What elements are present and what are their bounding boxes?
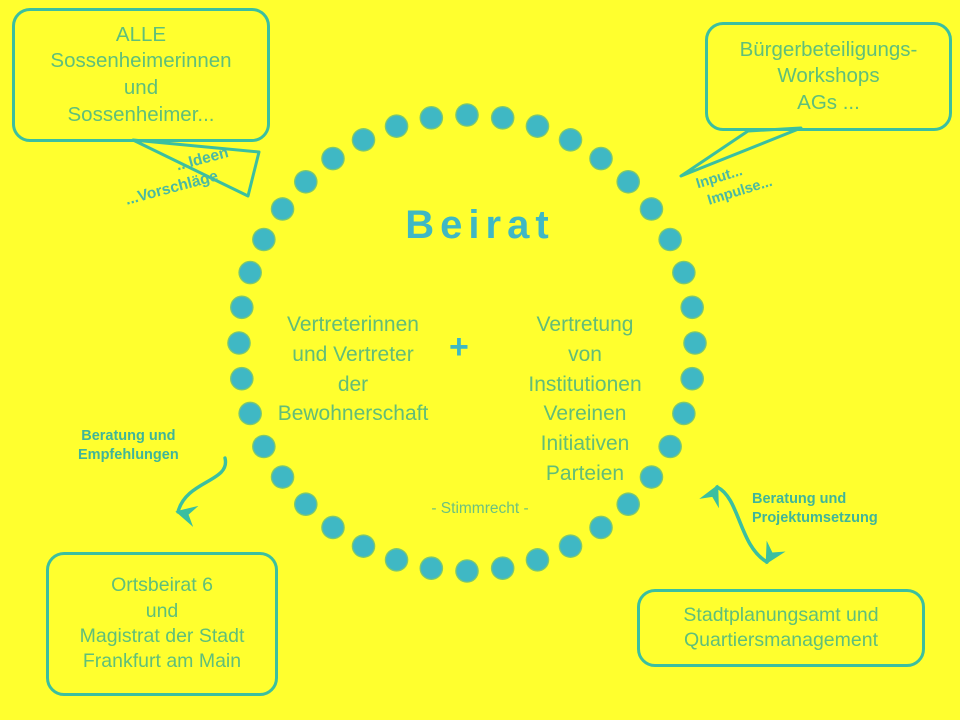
ring-dot <box>386 116 407 137</box>
center-right-line-5: Initiativen <box>490 429 680 459</box>
diagram-canvas: ALLE Sossenheimerinnen und Sossenheimer.… <box>0 0 960 720</box>
ring-dot-outline <box>321 516 345 540</box>
plus-icon: + <box>449 330 469 364</box>
ring-dot <box>527 116 548 137</box>
ring-dot <box>492 558 513 579</box>
ring-dot-outline <box>252 435 276 459</box>
bubble-citizens[interactable]: ALLE Sossenheimerinnen und Sossenheimer.… <box>12 8 270 142</box>
ring-dot <box>240 262 261 283</box>
box-ortsbeirat-line-1: Ortsbeirat 6 <box>49 573 275 598</box>
ring-dot <box>421 558 442 579</box>
center-left-line-4: Bewohnerschaft <box>258 399 448 429</box>
box-stadtplanung-line-2: Quartiersmanagement <box>640 628 922 653</box>
bubble-workshops-line-2: Workshops <box>708 63 949 90</box>
ring-dot <box>272 467 293 488</box>
center-column-residents: Vertreterinnen und Vertreter der Bewohne… <box>258 310 448 429</box>
ring-dot-outline <box>455 103 479 127</box>
ring-dot-outline <box>352 534 376 558</box>
ring-dot <box>682 368 703 389</box>
ring-dot <box>322 148 343 169</box>
ring-dot-outline <box>616 170 640 194</box>
ring-dot <box>229 333 250 354</box>
ring-dot-outline <box>420 106 444 130</box>
ring-dot-outline <box>491 106 515 130</box>
ring-dot-outline <box>230 367 254 391</box>
bubble-citizens-line-4: Sossenheimer... <box>15 102 267 129</box>
ring-dot <box>591 517 612 538</box>
bubble-workshops-line-1: Bürgerbeteiligungs- <box>708 37 949 64</box>
ring-dot-outline <box>589 516 613 540</box>
page-title-beirat: Beirat <box>0 203 960 248</box>
ring-dot-outline <box>526 114 550 138</box>
center-left-line-3: der <box>258 370 448 400</box>
ring-dot-outline <box>680 296 704 320</box>
ring-dot-outline <box>385 114 409 138</box>
ring-dot <box>457 105 478 126</box>
ring-dot <box>353 129 374 150</box>
bubble-citizens-line-1: ALLE <box>15 22 267 49</box>
ring-dot-outline <box>271 465 295 489</box>
bubble-workshops-line-3: AGs ... <box>708 90 949 117</box>
ring-dot-outline <box>352 128 376 152</box>
bubble-workshops[interactable]: Bürgerbeteiligungs- Workshops AGs ... <box>705 22 952 131</box>
ring-dot <box>322 517 343 538</box>
box-ortsbeirat-line-3: Magistrat der Stadt <box>49 624 275 649</box>
box-ortsbeirat-magistrat[interactable]: Ortsbeirat 6 und Magistrat der Stadt Fra… <box>46 552 278 696</box>
center-right-line-4: Vereinen <box>490 399 680 429</box>
ring-dot-outline <box>420 556 444 580</box>
ring-dot <box>560 129 581 150</box>
ring-dot-outline <box>680 367 704 391</box>
center-right-line-3: Institutionen <box>490 370 680 400</box>
ring-dot-outline <box>559 128 583 152</box>
ring-dot <box>560 536 581 557</box>
ring-dot-outline <box>491 556 515 580</box>
ring-dot <box>527 549 548 570</box>
ring-dot <box>673 262 694 283</box>
ring-dot-outline <box>683 331 707 355</box>
ring-dot <box>682 297 703 318</box>
center-left-line-2: und Vertreter <box>258 340 448 370</box>
ring-dot-outline <box>559 534 583 558</box>
ring-dot-outline <box>455 559 479 583</box>
center-left-line-1: Vertreterinnen <box>258 310 448 340</box>
center-right-line-1: Vertretung <box>490 310 680 340</box>
ring-dot-outline <box>672 261 696 285</box>
box-stadtplanung-line-1: Stadtplanungsamt und <box>640 603 922 628</box>
ring-dot <box>457 561 478 582</box>
ring-dot <box>353 536 374 557</box>
ring-dot-outline <box>589 147 613 171</box>
annotation-beratung-empfehlungen-line-1: Beratung und <box>78 427 179 446</box>
ring-dot <box>492 107 513 128</box>
ring-dot-outline <box>227 331 251 355</box>
box-stadtplanungsamt-quartiersmanagement[interactable]: Stadtplanungsamt und Quartiersmanagement <box>637 589 925 667</box>
annotation-beratung-projektumsetzung-line-2: Projektumsetzung <box>752 509 878 528</box>
ring-dot <box>685 333 706 354</box>
ring-dot <box>618 171 639 192</box>
center-column-institutions: Vertretung von Institutionen Vereinen In… <box>490 310 680 489</box>
annotation-beratung-empfehlungen: Beratung und Empfehlungen <box>78 427 179 464</box>
ring-dot-outline <box>385 548 409 572</box>
box-ortsbeirat-line-4: Frankfurt am Main <box>49 649 275 674</box>
ring-dot <box>231 368 252 389</box>
ring-dot <box>386 549 407 570</box>
ring-dot-outline <box>321 147 345 171</box>
ring-dot-outline <box>294 170 318 194</box>
annotation-beratung-projektumsetzung: Beratung und Projektumsetzung <box>752 490 878 527</box>
ring-dot <box>591 148 612 169</box>
bubble-citizens-line-3: und <box>15 75 267 102</box>
bubble-citizens-line-2: Sossenheimerinnen <box>15 48 267 75</box>
ring-dot <box>295 171 316 192</box>
ring-dot-outline <box>526 548 550 572</box>
ring-dot <box>421 107 442 128</box>
center-right-line-2: von <box>490 340 680 370</box>
ring-dot <box>253 436 274 457</box>
annotation-beratung-empfehlungen-line-2: Empfehlungen <box>78 446 179 465</box>
box-ortsbeirat-line-2: und <box>49 599 275 624</box>
annotation-ideen-vorschlaege: ...Ideen ...Vorschläge <box>118 143 236 210</box>
ring-dot <box>231 297 252 318</box>
annotation-beratung-projektumsetzung-line-1: Beratung und <box>752 490 878 509</box>
center-right-line-6: Parteien <box>490 459 680 489</box>
ring-dot-outline <box>230 296 254 320</box>
ring-dot-outline <box>238 261 262 285</box>
